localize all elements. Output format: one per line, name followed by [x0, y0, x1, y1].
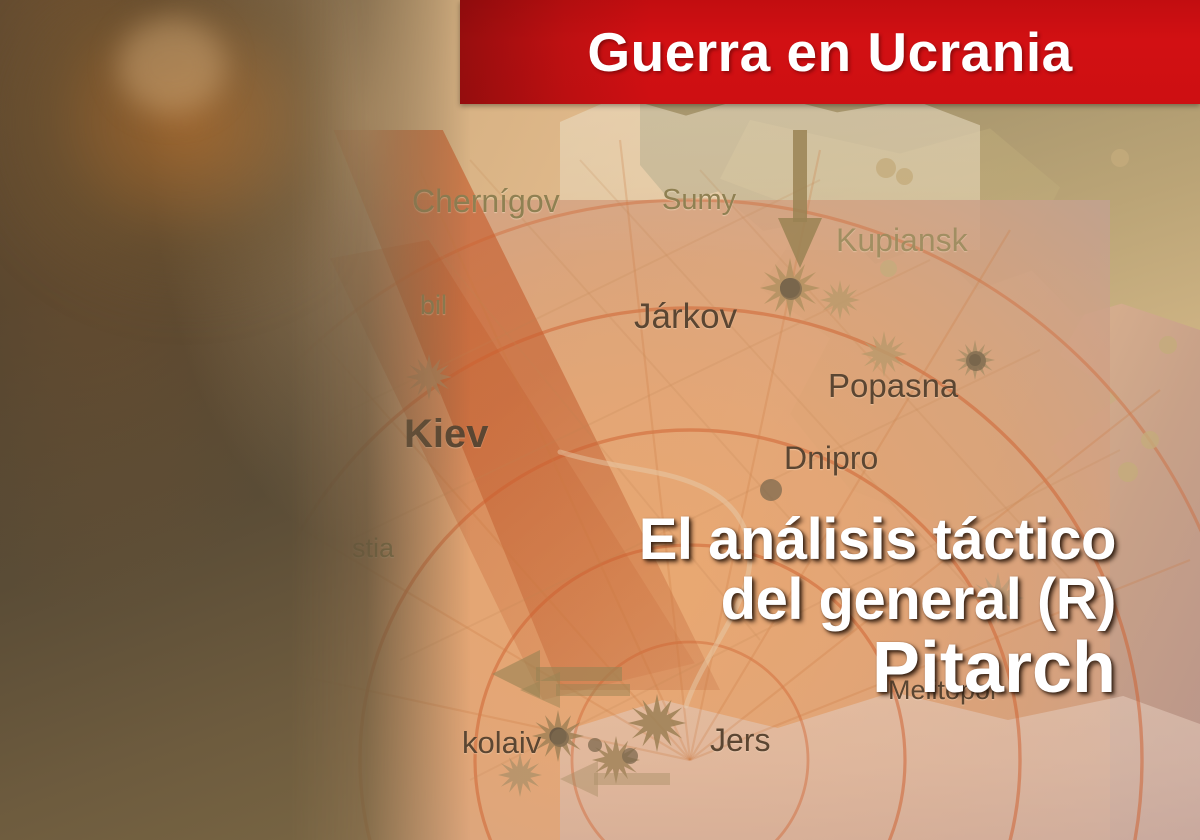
- category-banner: Guerra en Ucrania: [460, 0, 1200, 104]
- news-thumbnail: Chernígov Sumy Kupiansk bil Járkov Popas…: [0, 0, 1200, 840]
- portrait-figure: [0, 0, 470, 840]
- portrait-bokeh-light: [118, 18, 226, 114]
- category-banner-label: Guerra en Ucrania: [587, 20, 1072, 84]
